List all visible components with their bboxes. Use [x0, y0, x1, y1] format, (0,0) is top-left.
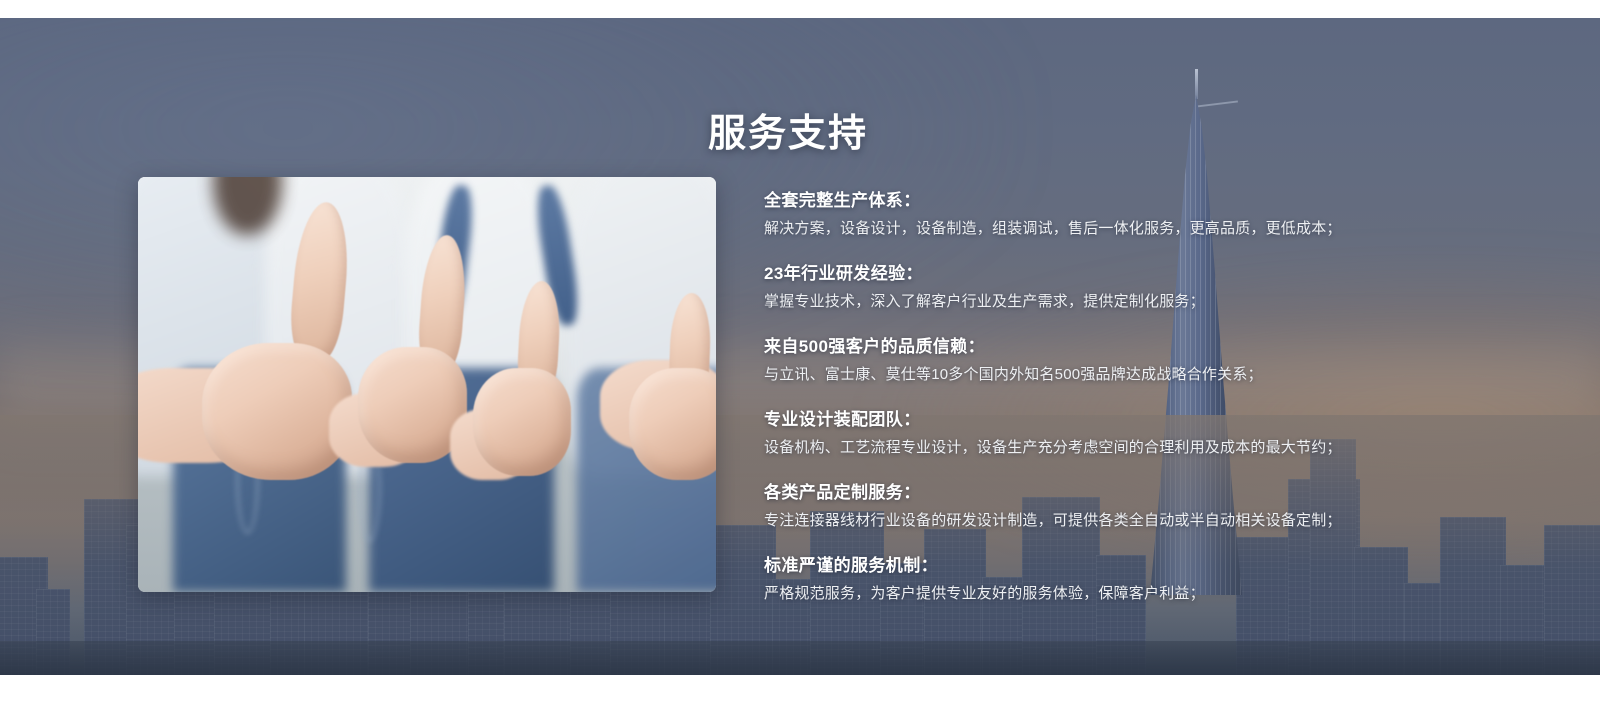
- feature-item: 全套完整生产体系： 解决方案，设备设计，设备制造，组装调试，售后一体化服务，更高…: [764, 190, 1464, 239]
- fist: [473, 368, 571, 476]
- ground-strip: [0, 641, 1600, 675]
- feature-title: 标准严谨的服务机制：: [764, 555, 1464, 577]
- feature-item: 专业设计装配团队： 设备机构、工艺流程专业设计，设备生产充分考虑空间的合理利用及…: [764, 409, 1464, 458]
- thumbs-up-photo: [138, 177, 716, 592]
- tower-spire-icon: [1195, 69, 1198, 99]
- service-support-banner: 服务支持 全套完整生产体系： 解决方案，设备设计，设备制造，组装调试，售后一体化…: [0, 18, 1600, 675]
- feature-title: 各类产品定制服务：: [764, 482, 1464, 504]
- feature-item: 来自500强客户的品质信赖： 与立讯、富士康、莫仕等10多个国内外知名500强品…: [764, 336, 1464, 385]
- feature-item: 各类产品定制服务： 专注连接器线材行业设备的研发设计制造，可提供各类全自动或半自…: [764, 482, 1464, 531]
- feature-description: 与立讯、富士康、莫仕等10多个国内外知名500强品牌达成战略合作关系；: [764, 365, 1464, 385]
- feature-item: 标准严谨的服务机制： 严格规范服务，为客户提供专业友好的服务体验，保障客户利益；: [764, 555, 1464, 604]
- feature-description: 专注连接器线材行业设备的研发设计制造，可提供各类全自动或半自动相关设备定制；: [764, 511, 1464, 531]
- fist: [629, 368, 716, 480]
- feature-description: 解决方案，设备设计，设备制造，组装调试，售后一体化服务，更高品质，更低成本；: [764, 219, 1464, 239]
- feature-item: 23年行业研发经验： 掌握专业技术，深入了解客户行业及生产需求，提供定制化服务；: [764, 263, 1464, 312]
- feature-list: 全套完整生产体系： 解决方案，设备设计，设备制造，组装调试，售后一体化服务，更高…: [764, 190, 1464, 604]
- feature-title: 全套完整生产体系：: [764, 190, 1464, 212]
- feature-description: 严格规范服务，为客户提供专业友好的服务体验，保障客户利益；: [764, 584, 1464, 604]
- fist: [202, 343, 352, 480]
- page-title: 服务支持: [708, 102, 868, 157]
- feature-description: 设备机构、工艺流程专业设计，设备生产充分考虑空间的合理利用及成本的最大节约；: [764, 438, 1464, 458]
- feature-description: 掌握专业技术，深入了解客户行业及生产需求，提供定制化服务；: [764, 292, 1464, 312]
- feature-title: 23年行业研发经验：: [764, 263, 1464, 285]
- feature-title: 专业设计装配团队：: [764, 409, 1464, 431]
- tower-crane-icon: [1196, 100, 1238, 107]
- feature-title: 来自500强客户的品质信赖：: [764, 336, 1464, 358]
